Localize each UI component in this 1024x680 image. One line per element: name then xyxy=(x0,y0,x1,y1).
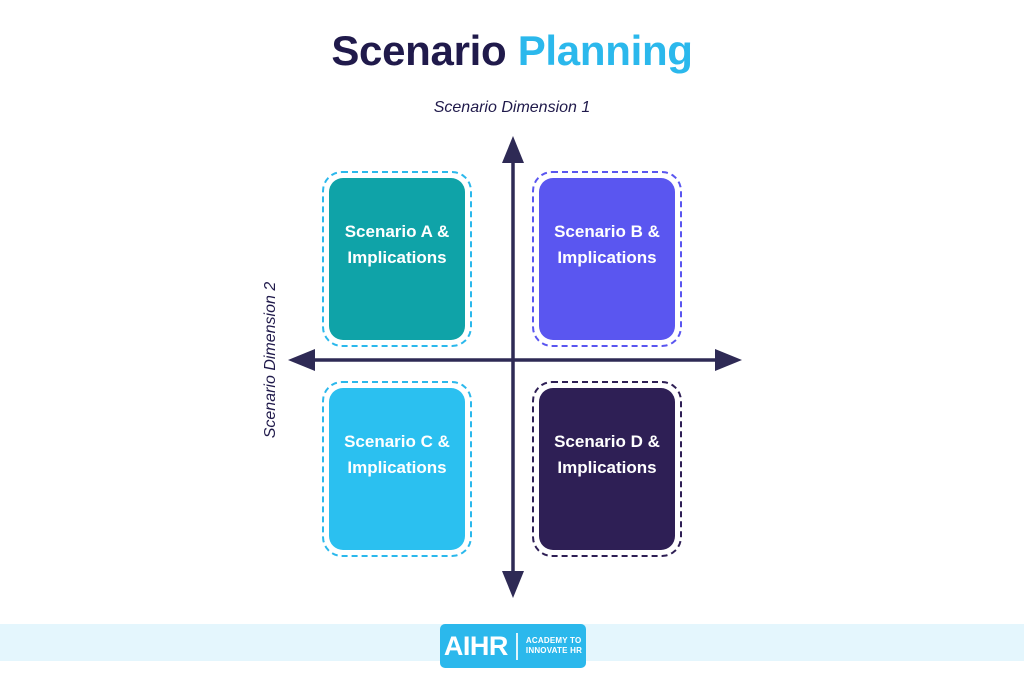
aihr-logo: AIHR ACADEMY TO INNOVATE HR xyxy=(440,624,586,668)
aihr-logo-tagline-line1: ACADEMY TO xyxy=(526,636,582,646)
aihr-logo-divider xyxy=(516,633,518,660)
arrow-left-icon xyxy=(288,349,315,371)
quadrant-b-label: Scenario B & Implications xyxy=(548,219,666,271)
page-title: Scenario Planning xyxy=(0,24,1024,78)
arrow-down-icon xyxy=(502,571,524,598)
quadrant-a-label-line2: Implications xyxy=(345,245,450,271)
page-title-part-primary: Scenario xyxy=(331,27,506,74)
page-title-part-accent: Planning xyxy=(518,27,693,74)
quadrant-scenario-d[interactable]: Scenario D & Implications xyxy=(532,381,682,557)
quadrant-scenario-c[interactable]: Scenario C & Implications xyxy=(322,381,472,557)
scenario-planning-diagram: Scenario Planning Scenario Dimension 1 S… xyxy=(0,0,1024,680)
quadrant-b-label-line1: Scenario B & xyxy=(554,219,660,245)
quadrant-b-fill: Scenario B & Implications xyxy=(539,178,675,340)
quadrant-c-label-line2: Implications xyxy=(344,455,450,481)
quadrant-d-fill: Scenario D & Implications xyxy=(539,388,675,550)
aihr-logo-tagline-line2: INNOVATE HR xyxy=(526,646,582,656)
aihr-logo-inner: AIHR ACADEMY TO INNOVATE HR xyxy=(444,633,582,660)
arrow-right-icon xyxy=(715,349,742,371)
quadrant-scenario-a[interactable]: Scenario A & Implications xyxy=(322,171,472,347)
quadrant-d-label-line2: Implications xyxy=(554,455,660,481)
aihr-logo-tagline: ACADEMY TO INNOVATE HR xyxy=(526,636,582,656)
quadrant-a-fill: Scenario A & Implications xyxy=(329,178,465,340)
quadrant-c-label: Scenario C & Implications xyxy=(338,429,456,481)
quadrant-c-fill: Scenario C & Implications xyxy=(329,388,465,550)
quadrant-c-label-line1: Scenario C & xyxy=(344,429,450,455)
quadrant-a-label-line1: Scenario A & xyxy=(345,219,450,245)
quadrant-d-label: Scenario D & Implications xyxy=(548,429,666,481)
quadrant-a-label: Scenario A & Implications xyxy=(339,219,456,271)
arrow-up-icon xyxy=(502,136,524,163)
aihr-logo-wordmark: AIHR xyxy=(444,633,508,660)
axis-label-dimension-1: Scenario Dimension 1 xyxy=(0,99,1024,117)
quadrant-d-label-line1: Scenario D & xyxy=(554,429,660,455)
axis-label-dimension-2: Scenario Dimension 2 xyxy=(262,282,280,439)
quadrant-scenario-b[interactable]: Scenario B & Implications xyxy=(532,171,682,347)
quadrant-b-label-line2: Implications xyxy=(554,245,660,271)
